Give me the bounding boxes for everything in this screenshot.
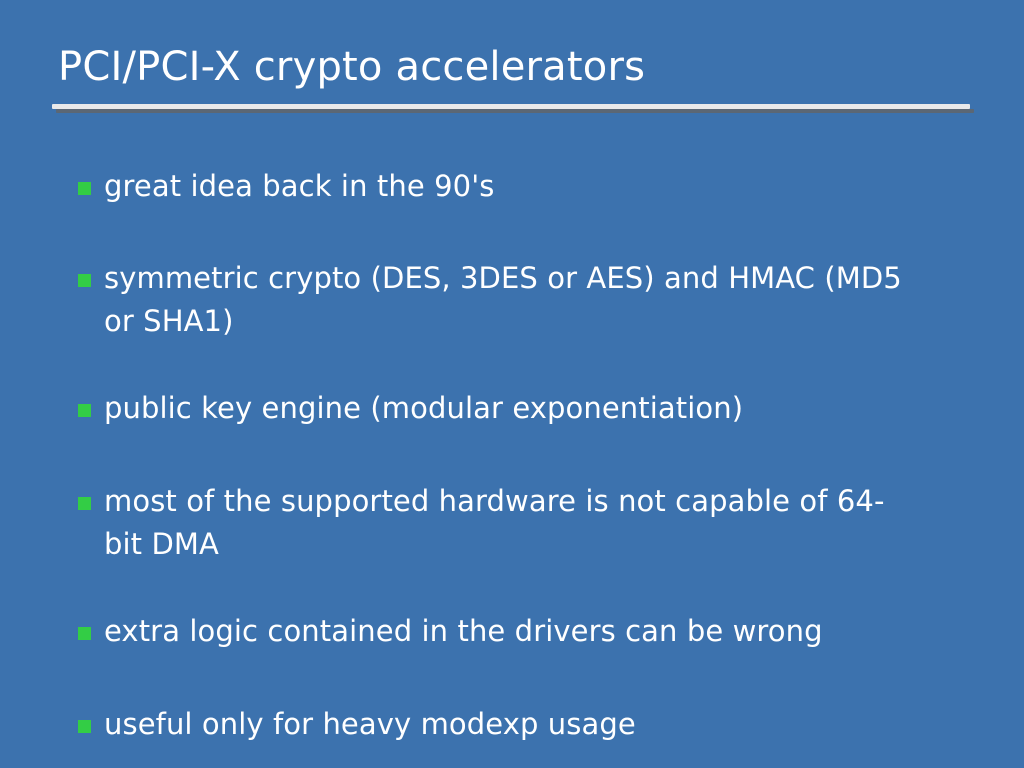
slide-title-block: PCI/PCI-X crypto accelerators [0, 0, 1024, 118]
list-item-label: great idea back in the 90's [104, 165, 978, 208]
square-bullet-icon [78, 404, 91, 417]
list-item-label: public key engine (modular exponentiatio… [104, 387, 978, 430]
list-item: great idea back in the 90's [78, 165, 978, 208]
list-item: symmetric crypto (DES, 3DES or AES) and … [78, 257, 908, 343]
square-bullet-icon [78, 497, 91, 510]
list-item: public key engine (modular exponentiatio… [78, 387, 978, 430]
square-bullet-icon [78, 720, 91, 733]
page-title: PCI/PCI-X crypto accelerators [58, 42, 978, 92]
list-item: extra logic contained in the drivers can… [78, 610, 978, 653]
presentation-slide: PCI/PCI-X crypto accelerators great idea… [0, 0, 1024, 768]
square-bullet-icon [78, 627, 91, 640]
list-item: useful only for heavy modexp usage [78, 703, 978, 746]
list-item: most of the supported hardware is not ca… [78, 480, 908, 566]
square-bullet-icon [78, 274, 91, 287]
list-item-label: most of the supported hardware is not ca… [104, 480, 908, 566]
list-item-label: extra logic contained in the drivers can… [104, 610, 978, 653]
square-bullet-icon [78, 182, 91, 195]
title-divider-shadow [56, 109, 974, 113]
list-item-label: useful only for heavy modexp usage [104, 703, 978, 746]
list-item-label: symmetric crypto (DES, 3DES or AES) and … [104, 257, 908, 343]
